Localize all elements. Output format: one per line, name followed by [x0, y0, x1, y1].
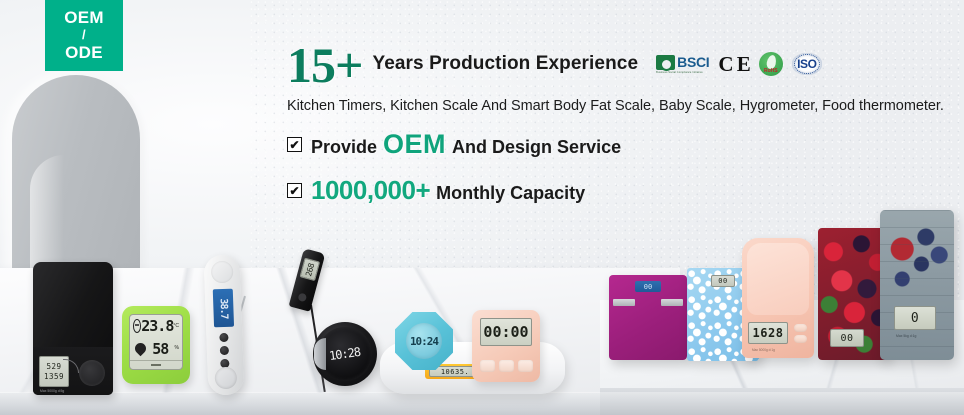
pink-timer-display: 00:00	[480, 318, 532, 346]
product-black-kitchen-scale: 529 1359 Max 5000g d:5g	[33, 262, 113, 395]
headline-row: 15+ Years Production Experience BSCI Bus…	[287, 40, 957, 90]
black-scale-display-bottom: 1359	[44, 372, 64, 381]
pink-scale-keys	[794, 324, 807, 343]
oem-badge-line2: ODE	[65, 44, 103, 62]
pen-thermometer-value: 268	[304, 262, 316, 277]
black-scale-keypad	[79, 360, 105, 386]
berry-scale-display: 00	[830, 329, 864, 347]
iso-icon: ISO	[792, 53, 822, 75]
wood-plank-texture	[880, 210, 954, 360]
bullet-oem-post: And Design Service	[452, 137, 621, 158]
headline-title: Years Production Experience	[373, 53, 639, 77]
marble-counter-edge-right	[600, 388, 964, 415]
round-timer-dial: 10:28	[318, 327, 372, 381]
product-green-hygrometer: 23.8 °C 58 %	[122, 306, 190, 384]
bsci-label: BSCI	[677, 54, 709, 70]
water-drop-icon	[133, 341, 149, 357]
product-purple-body-fat-scale: 00	[609, 275, 687, 360]
product-pink-kitchen-scale: 1628 Max 5000g d:1g	[742, 238, 814, 358]
bullet-oem: ✔ Provide OEM And Design Service	[287, 129, 957, 160]
years-number: 15+	[287, 40, 363, 90]
product-berry-glass-kitchen-scale: 00	[818, 228, 888, 360]
pink-scale-brand: Max 5000g d:1g	[752, 348, 775, 352]
rohs-label: RoHS	[764, 68, 778, 74]
blue-dot-scale-display: 00	[711, 275, 735, 287]
probe-display: 38.7	[213, 289, 234, 328]
pink-scale-tray	[747, 243, 809, 315]
octagonal-timer-display: 10:24	[410, 335, 438, 348]
hygrometer-humidity-unit: %	[175, 346, 179, 352]
probe-top-pivot	[211, 261, 234, 284]
wood-scale-display: 0	[894, 306, 936, 330]
pen-thermometer-button	[297, 292, 307, 302]
pen-thermometer-display: 268	[300, 258, 321, 281]
black-scale-brand: Max 5000g d:5g	[40, 389, 64, 393]
purple-scale-display: 00	[635, 281, 661, 292]
round-timer-notch	[314, 338, 326, 370]
bullet-capacity: ✔ 1000,000+ Monthly Capacity	[287, 175, 957, 206]
bsci-subtitle: Business Social Compliance Initiative	[656, 71, 703, 74]
bsci-main: BSCI	[656, 54, 709, 70]
capacity-number: 1000,000+	[311, 175, 430, 206]
wood-scale-brand: Max 5kg d:1g	[896, 334, 916, 338]
rohs-leaf-icon: RoHS	[759, 52, 783, 76]
ce-label: C E	[718, 52, 749, 77]
product-round-black-timer: 10:28	[313, 322, 377, 386]
hygrometer-humidity: 58	[152, 340, 168, 358]
bullet-oem-highlight: OEM	[383, 129, 446, 160]
round-timer-display: 10:28	[329, 345, 362, 363]
probe-bottom-pivot	[214, 367, 237, 390]
checkbox-icon: ✔	[287, 137, 302, 152]
hygrometer-humidity-row: 58 %	[130, 338, 182, 361]
capacity-label: Monthly Capacity	[436, 183, 585, 204]
oem-badge-separator: /	[82, 27, 86, 44]
product-categories-line: Kitchen Timers, Kitchen Scale And Smart …	[287, 98, 957, 114]
product-folding-probe-thermometer: 38.7	[204, 254, 245, 395]
octagonal-timer-face: 10:24	[406, 323, 442, 359]
checkbox-icon: ✔	[287, 183, 302, 198]
oem-ode-badge: OEM / ODE	[45, 0, 123, 71]
smiley-face-icon	[133, 319, 141, 333]
product-pink-square-timer: 00:00	[472, 310, 540, 382]
iso-globe-icon: ISO	[792, 53, 822, 75]
hygrometer-temp-unit: °C	[173, 324, 179, 330]
bullet-capacity-text: 1000,000+ Monthly Capacity	[311, 175, 585, 206]
probe-display-value: 38.7	[218, 298, 230, 318]
product-blue-octagonal-timer: 10:24	[395, 312, 453, 370]
headline-block: 15+ Years Production Experience BSCI Bus…	[287, 40, 957, 206]
arch-backdrop	[12, 75, 140, 275]
certification-badges: BSCI Business Social Compliance Initiati…	[656, 52, 822, 79]
pink-timer-keys	[480, 360, 533, 372]
product-wood-blueberry-glass-scale: 0 Max 5kg d:1g	[880, 210, 954, 360]
marble-counter-edge-left	[0, 393, 680, 415]
black-scale-display-top: 529	[46, 362, 61, 371]
oem-badge-line1: OEM	[64, 9, 104, 27]
hygrometer-temp-row: 23.8 °C	[130, 315, 182, 338]
purple-scale-electrode-left	[613, 299, 635, 306]
ce-icon: C E	[718, 52, 749, 77]
bsci-icon: BSCI Business Social Compliance Initiati…	[656, 54, 709, 74]
hygrometer-indicator-bar	[130, 360, 182, 369]
hygrometer-temperature: 23.8	[141, 317, 173, 335]
hygrometer-screen: 23.8 °C 58 %	[129, 314, 183, 370]
probe-buttons	[219, 333, 229, 368]
bullet-oem-text: Provide OEM And Design Service	[311, 129, 621, 160]
bullet-oem-pre: Provide	[311, 137, 377, 158]
product-banner: OEM / ODE 15+ Years Production Experienc…	[0, 0, 964, 415]
purple-scale-electrode-right	[661, 299, 683, 306]
pink-scale-display: 1628	[748, 322, 788, 344]
rohs-icon: RoHS	[759, 52, 783, 76]
iso-label: ISO	[797, 57, 816, 71]
bsci-mark-icon	[656, 55, 675, 70]
